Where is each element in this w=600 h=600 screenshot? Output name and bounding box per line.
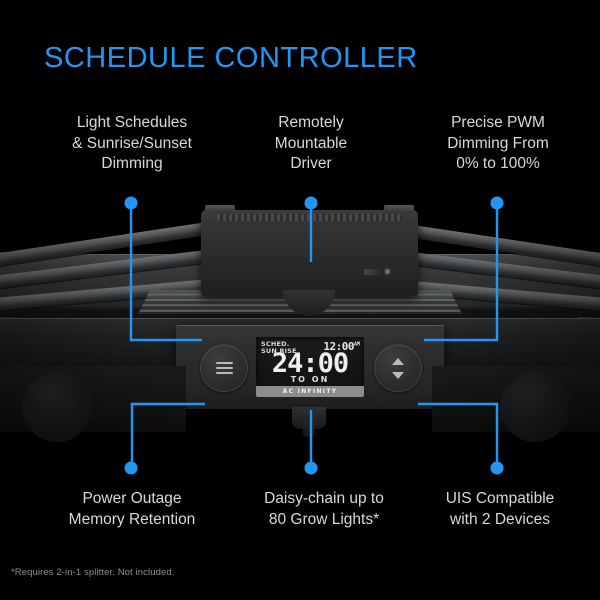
lcd-display: SCHED. SUN RISE 12:00AM 24:00 TO ON AC I…	[256, 337, 364, 397]
feature-uis-compatible: UIS Compatible with 2 Devices	[412, 489, 588, 530]
callout-dot-power-outage	[125, 462, 138, 475]
fixture-knob-left	[22, 372, 92, 442]
faceplate-top-seam	[176, 325, 444, 326]
up-down-button[interactable]	[374, 344, 422, 392]
arrow-down-icon	[392, 372, 404, 379]
callout-dot-pwm-dimming	[491, 197, 504, 210]
lcd-main-value: 24:00	[256, 350, 364, 378]
lcd-clock-meridiem: AM	[354, 341, 360, 347]
driver-heatsink-fins	[217, 214, 402, 221]
footnote: *Requires 2-in-1 splitter. Not included.	[11, 567, 174, 578]
cable-plug	[292, 407, 326, 429]
callout-dot-uis-compatible	[491, 462, 504, 475]
controller-faceplate: SCHED. SUN RISE 12:00AM 24:00 TO ON AC I…	[176, 325, 444, 409]
driver-bracket-left	[205, 205, 235, 213]
callout-dot-remote-driver	[305, 197, 318, 210]
driver-label	[364, 269, 380, 275]
lcd-brand-bar: AC INFINITY	[256, 386, 364, 397]
callout-dot-daisy-chain	[305, 462, 318, 475]
feature-power-outage: Power Outage Memory Retention	[36, 489, 228, 530]
feature-light-schedules: Light Schedules & Sunrise/Sunset Dimming	[36, 113, 228, 175]
lcd-status: TO ON	[256, 375, 364, 384]
driver-indicator-led	[385, 269, 390, 274]
feature-remote-driver: Remotely Mountable Driver	[240, 113, 382, 175]
driver-module	[201, 210, 418, 296]
driver-bracket-right	[384, 205, 414, 213]
lcd-brand-text: AC INFINITY	[283, 388, 338, 395]
arrow-up-icon	[392, 358, 404, 365]
feature-pwm-dimming: Precise PWM Dimming From 0% to 100%	[408, 113, 588, 175]
menu-icon	[216, 362, 233, 374]
feature-daisy-chain: Daisy-chain up to 80 Grow Lights*	[228, 489, 420, 530]
promo-graphic: SCHED. SUN RISE 12:00AM 24:00 TO ON AC I…	[0, 0, 600, 600]
page-title: SCHEDULE CONTROLLER	[44, 42, 418, 75]
callout-dot-light-schedules	[125, 197, 138, 210]
menu-button[interactable]	[200, 344, 248, 392]
fixture-knob-right	[500, 372, 570, 442]
